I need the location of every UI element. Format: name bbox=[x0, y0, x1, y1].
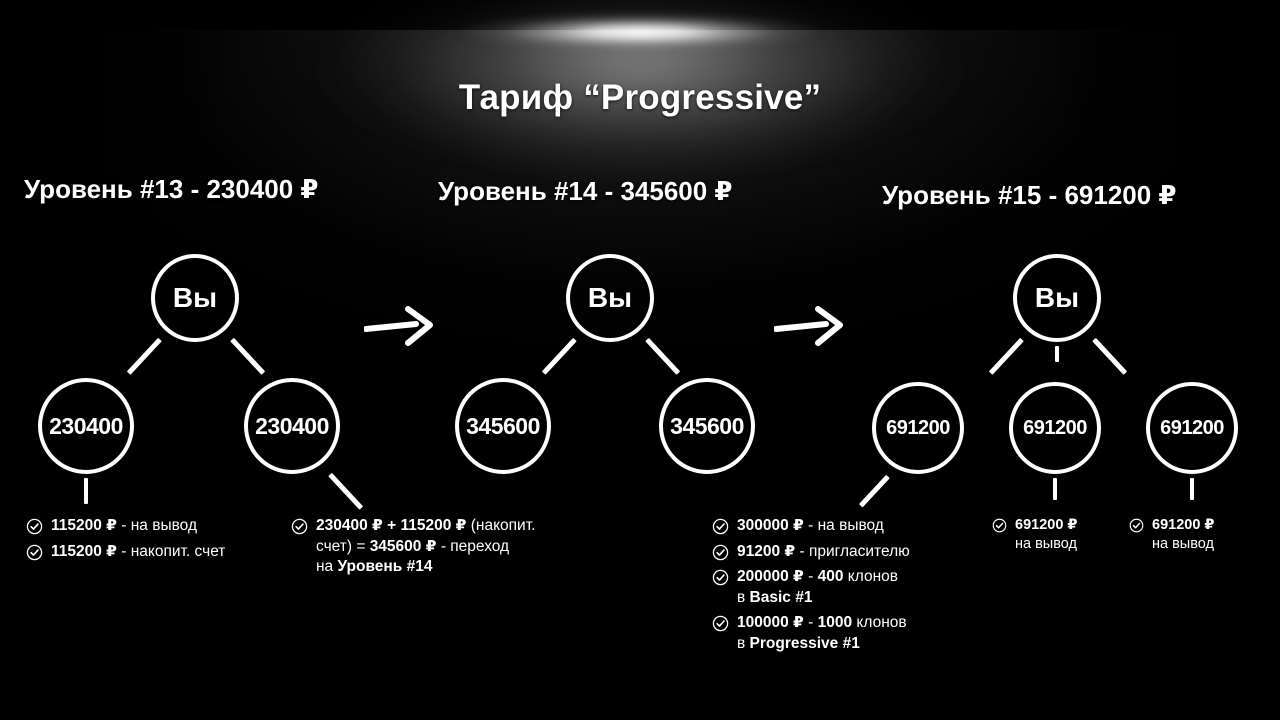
check-circle-icon bbox=[291, 518, 308, 535]
level-15-child-1-label: 691200 bbox=[886, 417, 950, 440]
level-13-root-label: Вы bbox=[173, 282, 217, 314]
list-item-text: 115200 ₽ - на вывод bbox=[51, 516, 197, 537]
list-item-text: 300000 ₽ - на вывод bbox=[737, 516, 884, 537]
level-14-root-node: Вы bbox=[566, 254, 654, 342]
level-13-child-2: 230400 bbox=[244, 378, 340, 474]
level-13-bullet-list: 115200 ₽ - на вывод 115200 ₽ - накопит. … bbox=[26, 516, 276, 567]
level-13-link-left bbox=[127, 338, 162, 375]
level-15-child-1: 691200 bbox=[872, 382, 964, 474]
level-15-child-2-tick bbox=[1053, 478, 1057, 500]
level-15-child-3: 691200 bbox=[1146, 382, 1238, 474]
arrow-right-icon bbox=[364, 303, 440, 347]
list-item: 200000 ₽ - 400 клоновв Basic #1 bbox=[712, 567, 982, 608]
level-15-link-middle bbox=[1055, 346, 1059, 362]
list-item-text: 115200 ₽ - накопит. счет bbox=[51, 542, 225, 563]
list-item: 100000 ₽ - 1000 клоновв Progressive #1 bbox=[712, 613, 982, 654]
check-circle-icon bbox=[712, 569, 729, 586]
level-15-link-left bbox=[989, 338, 1024, 375]
level-13-child-1-tick bbox=[84, 478, 88, 504]
level-15-heading: Уровень #15 - 691200 ₽ bbox=[882, 180, 1177, 211]
level-15-bullet-list-middle: 691200 ₽на вывод bbox=[992, 516, 1110, 560]
level-14-child-2-label: 345600 bbox=[670, 413, 744, 440]
list-item: 115200 ₽ - на вывод bbox=[26, 516, 276, 537]
list-item-text: 230400 ₽ + 115200 ₽ (накопит.счет) = 345… bbox=[316, 516, 535, 578]
level-15-link-right bbox=[1092, 338, 1127, 375]
check-circle-icon bbox=[26, 544, 43, 561]
list-item: 91200 ₽ - пригласителю bbox=[712, 542, 982, 563]
level-13-child-2-tick bbox=[328, 473, 363, 510]
level-15-child-2: 691200 bbox=[1009, 382, 1101, 474]
check-circle-icon bbox=[992, 518, 1007, 533]
list-item: 230400 ₽ + 115200 ₽ (накопит.счет) = 345… bbox=[291, 516, 691, 578]
level-14-child-1: 345600 bbox=[455, 378, 551, 474]
arrow-right-icon bbox=[774, 303, 850, 347]
level-13-child-2-label: 230400 bbox=[255, 413, 329, 440]
check-circle-icon bbox=[712, 615, 729, 632]
level-15-root-label: Вы bbox=[1035, 282, 1079, 314]
level-15-child-3-tick bbox=[1190, 478, 1194, 500]
slide-root: Тариф “Progressive” Уровень #13 - 230400… bbox=[0, 0, 1280, 720]
level-15-child-1-tick bbox=[859, 475, 890, 508]
level-15-child-3-label: 691200 bbox=[1160, 417, 1224, 440]
level-14-bullet-list: 230400 ₽ + 115200 ₽ (накопит.счет) = 345… bbox=[291, 516, 691, 583]
level-14-heading: Уровень #14 - 345600 ₽ bbox=[438, 176, 733, 207]
level-14-child-2: 345600 bbox=[659, 378, 755, 474]
list-item: 691200 ₽на вывод bbox=[992, 516, 1110, 555]
check-circle-icon bbox=[712, 518, 729, 535]
check-circle-icon bbox=[712, 544, 729, 561]
level-15-child-2-label: 691200 bbox=[1023, 417, 1087, 440]
level-14-link-right bbox=[645, 338, 680, 375]
list-item: 115200 ₽ - накопит. счет bbox=[26, 542, 276, 563]
list-item-text: 200000 ₽ - 400 клоновв Basic #1 bbox=[737, 567, 898, 608]
level-13-link-right bbox=[230, 338, 265, 375]
list-item: 300000 ₽ - на вывод bbox=[712, 516, 982, 537]
level-13-heading: Уровень #13 - 230400 ₽ bbox=[24, 174, 319, 205]
level-13-child-1: 230400 bbox=[38, 378, 134, 474]
level-13-child-1-label: 230400 bbox=[49, 413, 123, 440]
list-item-text: 91200 ₽ - пригласителю bbox=[737, 542, 910, 563]
level-14-link-left bbox=[542, 338, 577, 375]
check-circle-icon bbox=[26, 518, 43, 535]
level-15-bullet-list: 300000 ₽ - на вывод 91200 ₽ - пригласите… bbox=[712, 516, 982, 660]
level-13-root-node: Вы bbox=[151, 254, 239, 342]
level-15-bullet-list-right: 691200 ₽на вывод bbox=[1129, 516, 1247, 560]
level-15-root-node: Вы bbox=[1013, 254, 1101, 342]
level-14-child-1-label: 345600 bbox=[466, 413, 540, 440]
list-item: 691200 ₽на вывод bbox=[1129, 516, 1247, 555]
list-item-text: 691200 ₽на вывод bbox=[1152, 516, 1215, 555]
check-circle-icon bbox=[1129, 518, 1144, 533]
list-item-text: 691200 ₽на вывод bbox=[1015, 516, 1078, 555]
page-title: Тариф “Progressive” bbox=[0, 78, 1280, 118]
list-item-text: 100000 ₽ - 1000 клоновв Progressive #1 bbox=[737, 613, 907, 654]
level-14-root-label: Вы bbox=[588, 282, 632, 314]
